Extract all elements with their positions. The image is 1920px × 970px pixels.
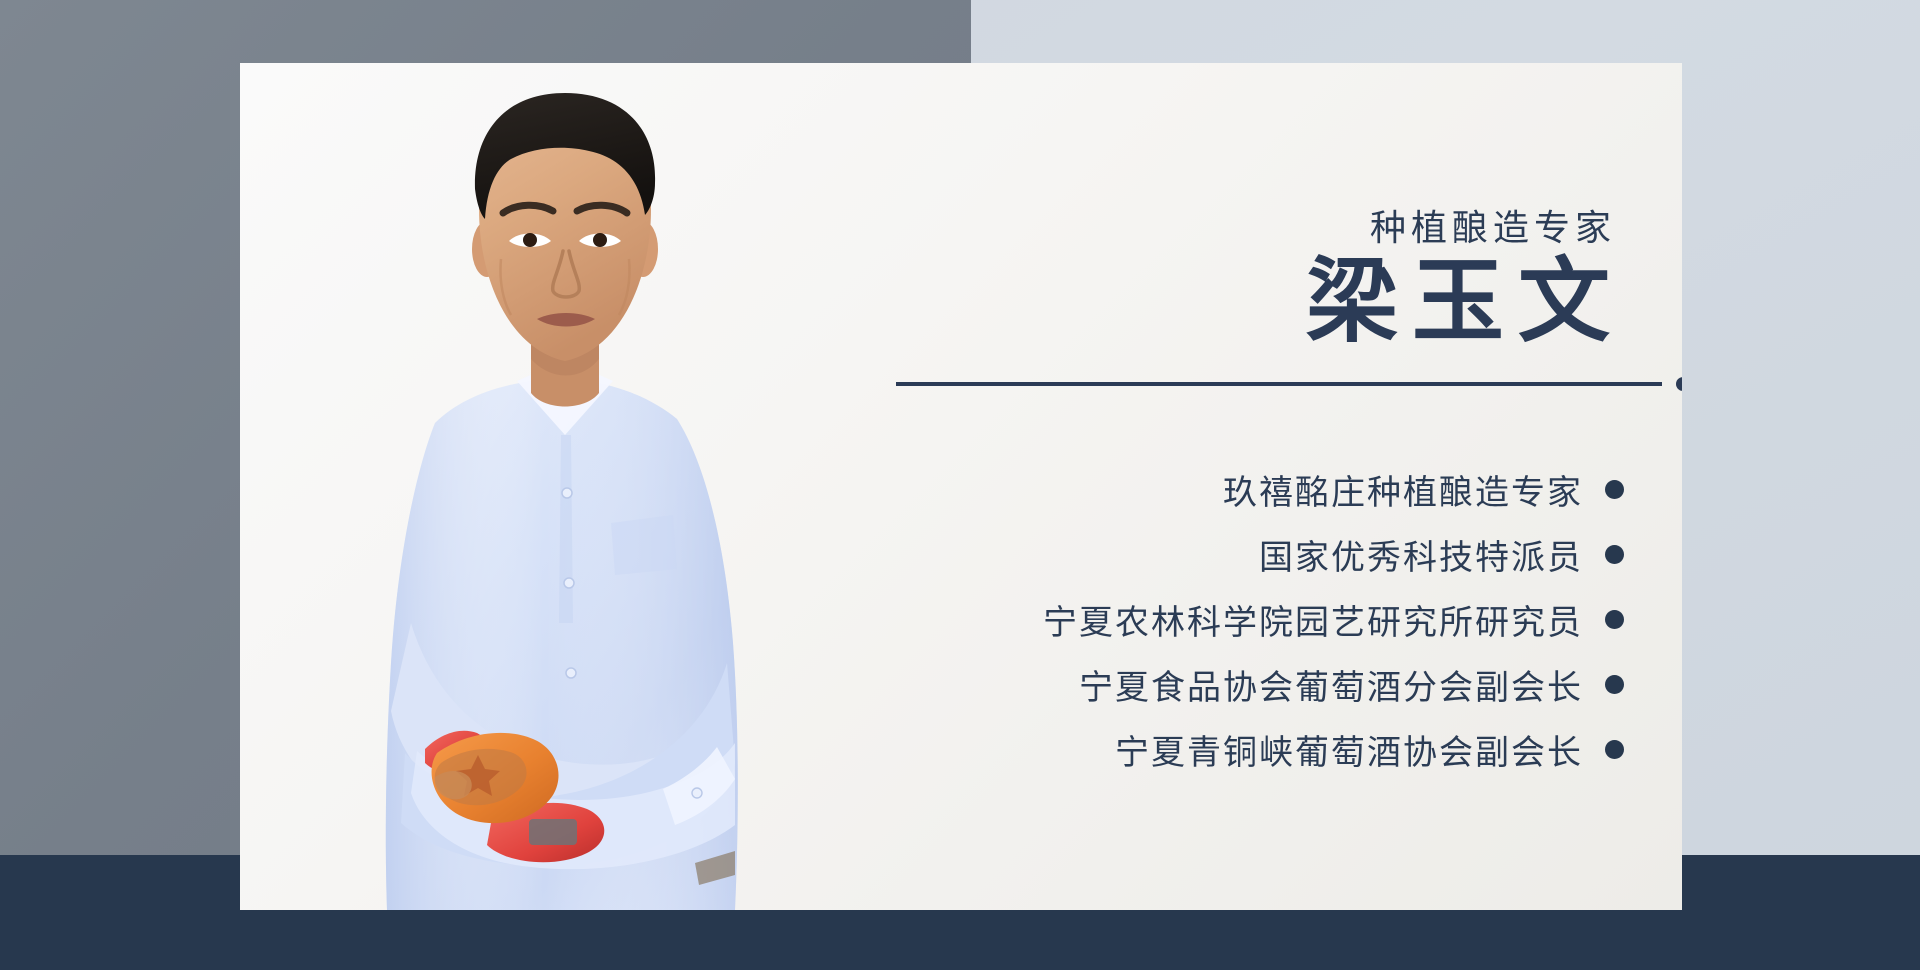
profile-card: 种植酿造专家 梁玉文 玖禧酩庄种植酿造专家 国家优秀科技特派员 宁夏农林科学院园… [240, 63, 1682, 910]
portrait-photo [265, 63, 865, 910]
shear-label [529, 819, 577, 845]
role-label: 种植酿造专家 [1370, 199, 1616, 251]
list-item: 宁夏食品协会葡萄酒分会副会长 [944, 652, 1624, 717]
credential-text: 宁夏青铜峡葡萄酒协会副会长 [1115, 725, 1583, 774]
bullet-dot-icon [1605, 675, 1624, 694]
credential-text: 国家优秀科技特派员 [1259, 530, 1583, 579]
profile-text-column: 种植酿造专家 梁玉文 玖禧酩庄种植酿造专家 国家优秀科技特派员 宁夏农林科学院园… [940, 63, 1682, 910]
background-block-navy-bottom-right [1682, 858, 1920, 970]
credential-text: 宁夏农林科学院园艺研究所研究员 [1043, 595, 1583, 644]
credential-text: 玖禧酩庄种植酿造专家 [1223, 465, 1583, 514]
credential-text: 宁夏食品协会葡萄酒分会副会长 [1079, 660, 1583, 709]
bullet-dot-icon [1605, 740, 1624, 759]
credentials-list: 玖禧酩庄种植酿造专家 国家优秀科技特派员 宁夏农林科学院园艺研究所研究员 宁夏食… [944, 457, 1624, 782]
list-item: 玖禧酩庄种植酿造专家 [944, 457, 1624, 522]
divider-end-dot-icon [1676, 377, 1682, 391]
profile-banner: 种植酿造专家 梁玉文 玖禧酩庄种植酿造专家 国家优秀科技特派员 宁夏农林科学院园… [0, 0, 1920, 970]
divider-rule [896, 382, 1662, 386]
list-item: 国家优秀科技特派员 [944, 522, 1624, 587]
bullet-dot-icon [1605, 610, 1624, 629]
bullet-dot-icon [1605, 480, 1624, 499]
bullet-dot-icon [1605, 545, 1624, 564]
divider-line [896, 381, 1682, 387]
list-item: 宁夏农林科学院园艺研究所研究员 [944, 587, 1624, 652]
person-name: 梁玉文 [1306, 251, 1624, 354]
list-item: 宁夏青铜峡葡萄酒协会副会长 [944, 717, 1624, 782]
